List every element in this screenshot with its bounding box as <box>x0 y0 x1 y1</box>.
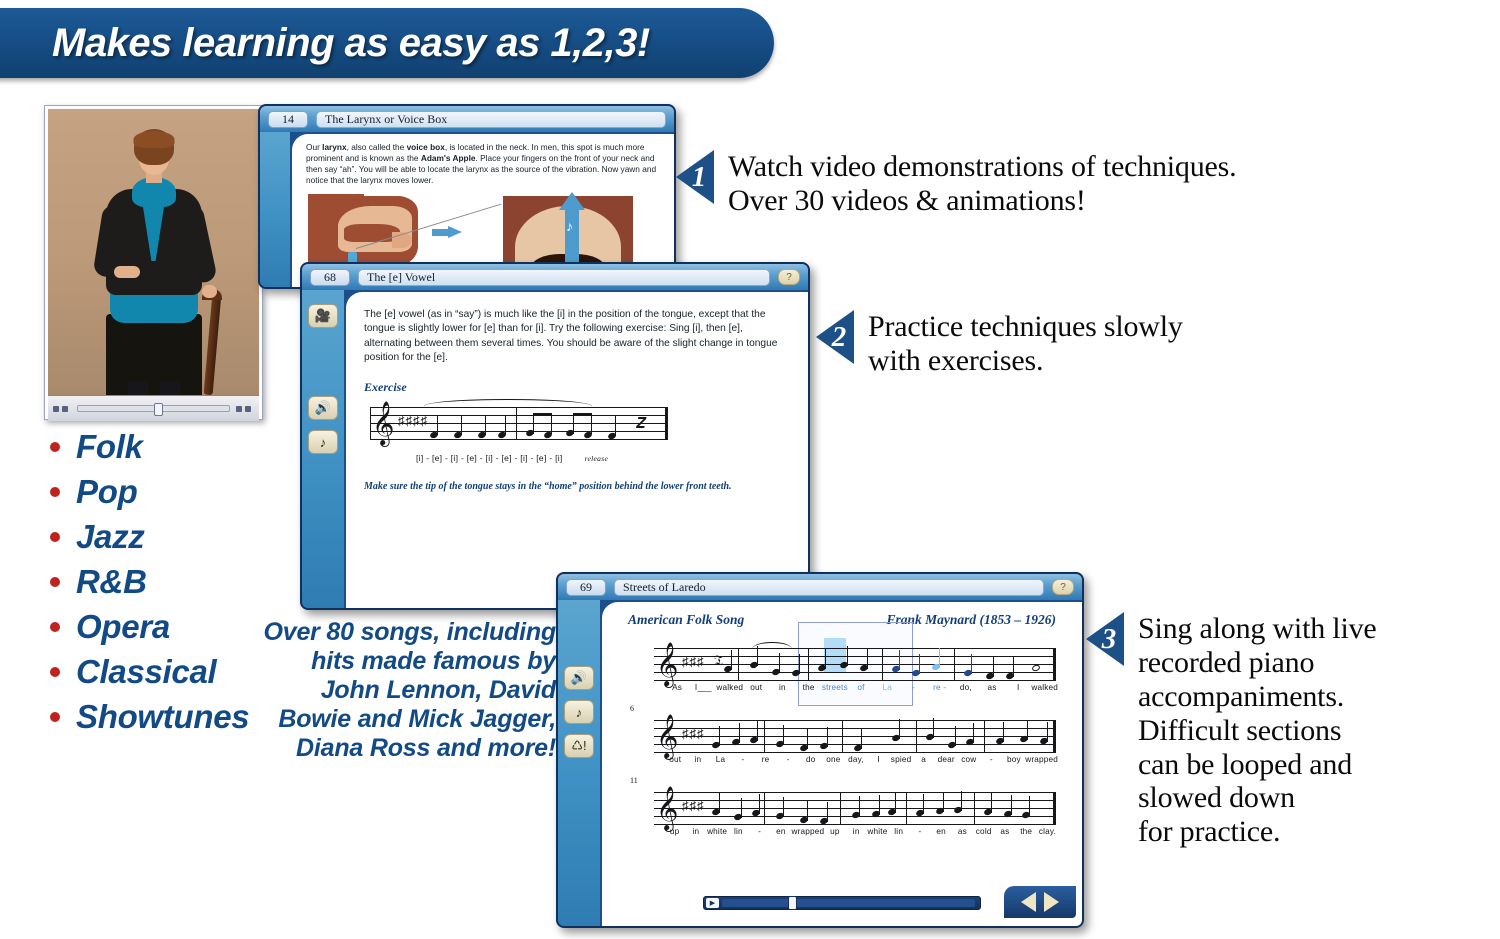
video-playback-bar[interactable] <box>48 395 259 421</box>
key-signature: ♯♯♯ <box>682 654 705 669</box>
practice-tip: Make sure the tip of the tongue stays in… <box>364 481 808 492</box>
music-staff: 𝄞 ♯♯♯ <box>654 720 1054 754</box>
lyric-syllable: - <box>900 683 926 692</box>
lyric-row: up in white lin - en wrapped up in white… <box>664 827 1058 836</box>
step-text: Sing along with live recorded piano acco… <box>1138 612 1377 849</box>
page-title: The [e] Vowel <box>358 269 770 286</box>
syllable-row: [i] - [e] - [i] - [e] - [i] - [e] - [i] … <box>416 453 808 463</box>
play-icon[interactable] <box>53 406 59 412</box>
bullet-icon <box>50 667 60 677</box>
lyric-syllable: - <box>732 755 755 764</box>
bullet-icon <box>50 577 60 587</box>
right-hand-shape <box>202 285 217 298</box>
bullet-icon <box>50 487 60 497</box>
help-icon[interactable]: ? <box>778 269 800 285</box>
tool-rail: 🎥 🔊 ♪ <box>302 290 344 608</box>
genre-label: Opera <box>76 608 170 646</box>
lyric-syllable: in <box>846 827 867 836</box>
lyric-syllable: I <box>867 755 890 764</box>
lyric-syllable: do, <box>953 683 979 692</box>
page-sheet: American Folk Song Frank Maynard (1853 –… <box>600 600 1082 926</box>
window-body: 🔊 ♪ ♺! American Folk Song Frank Maynard … <box>558 600 1082 926</box>
key-signature: ♯♯♯ <box>682 798 705 813</box>
lyric-syllable: white <box>867 827 888 836</box>
music-staff: 𝄞 ♯♯♯♯ 𝜡 <box>370 407 668 441</box>
left-hand-shape <box>114 266 140 278</box>
pause-icon[interactable] <box>62 406 68 412</box>
loop-practice-icon[interactable]: ♺! <box>564 734 594 758</box>
left-leg-shape <box>128 381 148 395</box>
key-signature: ♯♯♯ <box>682 726 705 741</box>
cane-shape <box>203 293 221 395</box>
release-label: release <box>585 454 608 463</box>
lyric-syllable: in <box>685 827 706 836</box>
treble-clef-icon: 𝄞 <box>656 790 678 828</box>
exercise-label: Exercise <box>364 380 808 395</box>
step-text: Practice techniques slowly with exercise… <box>868 310 1183 378</box>
window-body: 🎥 🔊 ♪ The [e] vowel (as in “say”) is muc… <box>302 290 808 608</box>
lyric-syllable: up <box>824 827 845 836</box>
music-staff: 𝄞 ♯♯♯ <box>654 792 1054 826</box>
song-origin-label: American Folk Song <box>628 612 744 628</box>
genre-label: Jazz <box>76 518 145 556</box>
page-title: Streets of Laredo <box>614 579 1044 596</box>
lyric-syllable: one <box>822 755 845 764</box>
music-note-icon[interactable]: ♪ <box>308 430 338 454</box>
lyric-syllable: - <box>980 755 1003 764</box>
bullet-icon <box>50 442 60 452</box>
lesson-body-text: Our larynx, also called the voice box, i… <box>292 134 674 190</box>
lyric-syllable: of <box>848 683 874 692</box>
lyric-syllable: As <box>664 683 690 692</box>
airflow-arrow-icon <box>432 226 466 238</box>
lyric-syllable: cow <box>958 755 981 764</box>
rest-icon: 𝜡 <box>636 419 640 429</box>
measure-number: 11 <box>630 776 638 785</box>
time-signature: 𝔗 <box>714 652 724 669</box>
lyric-syllable: - <box>777 755 800 764</box>
lyric-syllable: - <box>749 827 770 836</box>
music-system: 11 𝄞 ♯♯♯ <box>628 780 1058 844</box>
lyric-syllable: as <box>994 827 1015 836</box>
step-3: 3 Sing along with live recorded piano ac… <box>1086 612 1500 849</box>
speaker-icon[interactable]: 🔊 <box>564 666 594 690</box>
genre-label: Showtunes <box>76 698 249 736</box>
lesson-body-text: The [e] vowel (as in “say”) is much like… <box>346 292 808 366</box>
genre-label: Folk <box>76 428 143 466</box>
app-window-vowel[interactable]: 68 The [e] Vowel ? 🎥 🔊 ♪ The [e] vowel (… <box>300 262 810 610</box>
volume-icon[interactable] <box>236 406 242 412</box>
step-arrow-icon: 2 <box>816 310 854 364</box>
lyric-syllable: day, <box>845 755 868 764</box>
lyric-syllable: wrapped <box>792 827 825 836</box>
fringe-shape <box>133 131 174 148</box>
step-text: Watch video demonstrations of techniques… <box>728 150 1236 218</box>
step-number: 2 <box>824 321 854 354</box>
fullscreen-icon[interactable] <box>245 406 251 412</box>
page-number-badge: 68 <box>310 269 350 286</box>
lyric-syllable: boy <box>1003 755 1026 764</box>
music-note-icon[interactable]: ♪ <box>564 700 594 724</box>
slur-icon <box>752 642 792 656</box>
step-arrow-icon: 3 <box>1086 612 1124 666</box>
video-scrubber[interactable] <box>77 405 230 412</box>
page-number-badge: 69 <box>566 579 606 596</box>
transport-knob[interactable] <box>788 896 797 910</box>
next-page-icon[interactable] <box>1044 892 1059 912</box>
exercise-notation: 𝄞 ♯♯♯♯ 𝜡 <box>364 397 682 451</box>
headline-banner: Makes learning as easy as 1,2,3! <box>0 8 774 78</box>
lyric-syllable: white <box>707 827 728 836</box>
lyric-syllable: as <box>952 827 973 836</box>
lyric-syllable: dear <box>935 755 958 764</box>
tool-rail: 🔊 ♪ ♺! <box>558 600 600 926</box>
previous-page-icon[interactable] <box>1021 892 1036 912</box>
lyric-syllable: walked <box>1031 683 1058 692</box>
video-scrubber-thumb[interactable] <box>154 403 163 416</box>
treble-clef-icon: 𝄞 <box>656 646 678 684</box>
titlebar: 14 The Larynx or Voice Box <box>260 106 674 132</box>
bullet-icon <box>50 622 60 632</box>
lyric-syllable: re - <box>927 683 953 692</box>
titlebar: 69 Streets of Laredo ? <box>558 574 1082 600</box>
help-icon[interactable]: ? <box>1052 579 1074 595</box>
lyric-syllable: in <box>687 755 710 764</box>
lyric-syllable: clay. <box>1037 827 1058 836</box>
key-signature: ♯♯♯♯ <box>398 413 428 428</box>
titlebar: 68 The [e] Vowel ? <box>302 264 808 290</box>
video-camera-icon[interactable]: 🎥 <box>308 304 338 328</box>
video-frame[interactable] <box>48 109 259 395</box>
lyric-syllable: up <box>664 827 685 836</box>
right-leg-shape <box>160 381 180 395</box>
lyric-syllable: the <box>1016 827 1037 836</box>
treble-clef-icon: 𝄞 <box>372 405 394 443</box>
lyric-syllable: cold <box>973 827 994 836</box>
music-system: 6 𝄞 ♯♯♯ <box>628 708 1058 772</box>
tool-rail <box>260 132 290 287</box>
lyric-syllable: as <box>979 683 1005 692</box>
lyric-syllable: re <box>754 755 777 764</box>
lyric-syllable: en <box>931 827 952 836</box>
step-number: 3 <box>1094 623 1124 656</box>
lyric-syllable: out <box>743 683 769 692</box>
music-staff: 𝄞 ♯♯♯ 𝔗 <box>654 648 1054 682</box>
music-system: 𝄞 ♯♯♯ 𝔗 <box>628 636 1058 700</box>
lyric-syllable: a <box>912 755 935 764</box>
instructor-video-card[interactable] <box>44 105 263 420</box>
lyric-syllable: spied <box>890 755 913 764</box>
bullet-icon <box>50 712 60 722</box>
lyric-syllable: do <box>799 755 822 764</box>
lyric-syllable: lin <box>888 827 909 836</box>
page-sheet: The [e] vowel (as in “say”) is much like… <box>344 290 808 608</box>
treble-clef-icon: 𝄞 <box>656 718 678 756</box>
lyric-syllable: out <box>664 755 687 764</box>
lyric-syllable: lin <box>728 827 749 836</box>
lyric-syllable: I___ <box>690 683 716 692</box>
step-2: 2 Practice techniques slowly with exerci… <box>816 310 1376 378</box>
step-arrow-icon: 1 <box>676 150 714 204</box>
lyric-syllable: La <box>709 755 732 764</box>
lyric-syllable: I <box>1005 683 1031 692</box>
page-title: The Larynx or Voice Box <box>316 111 666 128</box>
transport-track[interactable] <box>722 899 975 907</box>
step-1: 1 Watch video demonstrations of techniqu… <box>676 150 1316 218</box>
step-number: 1 <box>684 161 714 194</box>
genre-label: Classical <box>76 653 216 691</box>
lyric-syllable: en <box>770 827 791 836</box>
lyric-syllable: - <box>909 827 930 836</box>
skirt-shape <box>106 314 202 395</box>
genre-label: R&B <box>76 563 147 601</box>
page-number-badge: 14 <box>268 111 308 128</box>
lyric-syllable: in <box>769 683 795 692</box>
lyric-syllable: La <box>874 683 900 692</box>
play-icon[interactable]: ▶ <box>706 898 719 908</box>
headline-text: Makes learning as easy as 1,2,3! <box>52 21 650 66</box>
lyric-syllable: walked <box>716 683 743 692</box>
genre-label: Pop <box>76 473 137 511</box>
page-navigation[interactable] <box>1004 886 1076 918</box>
app-window-song[interactable]: 69 Streets of Laredo ? 🔊 ♪ ♺! American F… <box>556 572 1084 928</box>
bullet-icon <box>50 532 60 542</box>
syllable-sequence: [i] - [e] - [i] - [e] - [i] - [e] - [i] … <box>416 453 563 463</box>
songs-blurb: Over 80 songs, including hits made famou… <box>246 618 556 763</box>
lyric-row: out in La - re - do one day, I spied a d… <box>664 755 1058 764</box>
measure-number: 6 <box>630 704 634 713</box>
lyric-syllable: wrapped <box>1025 755 1058 764</box>
music-note-icon: ♪ <box>566 218 573 234</box>
transport-slider[interactable]: ▶ <box>703 896 981 910</box>
lyric-syllable: streets <box>822 683 848 692</box>
speaker-icon[interactable]: 🔊 <box>308 396 338 420</box>
lyric-row: As I___ walked out in the streets of La … <box>664 683 1058 692</box>
lyric-syllable: the <box>796 683 822 692</box>
